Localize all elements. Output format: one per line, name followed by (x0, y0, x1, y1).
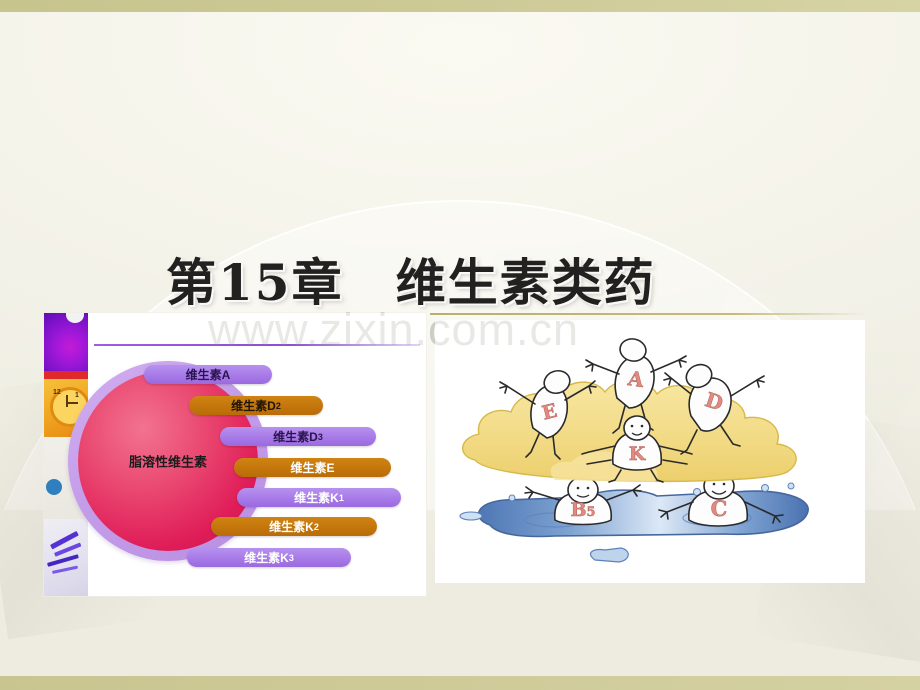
vitamin-pill-k3: 维生素K3 (187, 548, 351, 567)
vitamin-pill-k2: 维生素K2 (211, 517, 377, 536)
vitamin-pill-label: 维生素K (294, 489, 339, 506)
decor-magenta-swirl (44, 313, 88, 375)
vitamin-pill-label: 维生素D (231, 397, 276, 414)
purple-divider-line (94, 344, 420, 346)
bottom-band (0, 676, 920, 690)
vitamin-pill-subscript: 3 (289, 553, 294, 563)
fat-soluble-vitamin-diagram: 121 脂溶性维生素 维生素A维生素D2维生素D3维生素E维生素K1维生素K2维… (44, 313, 426, 596)
slide-title: 第15章维生素类药 (166, 243, 656, 315)
vitamin-pill-a: 维生素A (144, 365, 272, 384)
vitamin-pill-d3: 维生素D3 (220, 427, 376, 446)
slide-canvas: 第15章维生素类药 www.zixin.com.cn 121 脂溶 (0, 0, 920, 690)
vitamin-pill-subscript: 2 (276, 401, 281, 411)
top-band (0, 0, 920, 12)
vitamin-pill-k1: 维生素K1 (237, 488, 401, 507)
vitamin-pill-label: 维生素D (273, 428, 318, 445)
title-chapter: 第15章 (166, 253, 344, 312)
vitamin-pill-subscript: 1 (339, 493, 344, 503)
gold-divider-line (430, 313, 870, 315)
vitamin-cartoon-illustration: B5 C E (435, 320, 865, 583)
vitamin-pill-subscript: 3 (318, 432, 323, 442)
vitamin-pill-e: 维生素E (234, 458, 391, 477)
svg-text:K: K (629, 443, 647, 465)
cartoon-svg: B5 C E (435, 320, 865, 583)
svg-text:C: C (711, 496, 728, 521)
vitamin-pill-label: 维生素K (244, 549, 289, 566)
title-topic: 维生素类药 (396, 253, 656, 312)
circle-center-label: 脂溶性维生素 (78, 452, 258, 471)
vitamin-pill-label: 维生素K (269, 518, 314, 535)
decor-pens-block (44, 519, 88, 596)
vitamin-pill-label: 维生素A (186, 366, 231, 383)
vitamin-pill-subscript: 2 (314, 522, 319, 532)
vitamin-pill-d2: 维生素D2 (189, 396, 323, 415)
vitamin-pill-label: 维生素E (290, 459, 334, 476)
